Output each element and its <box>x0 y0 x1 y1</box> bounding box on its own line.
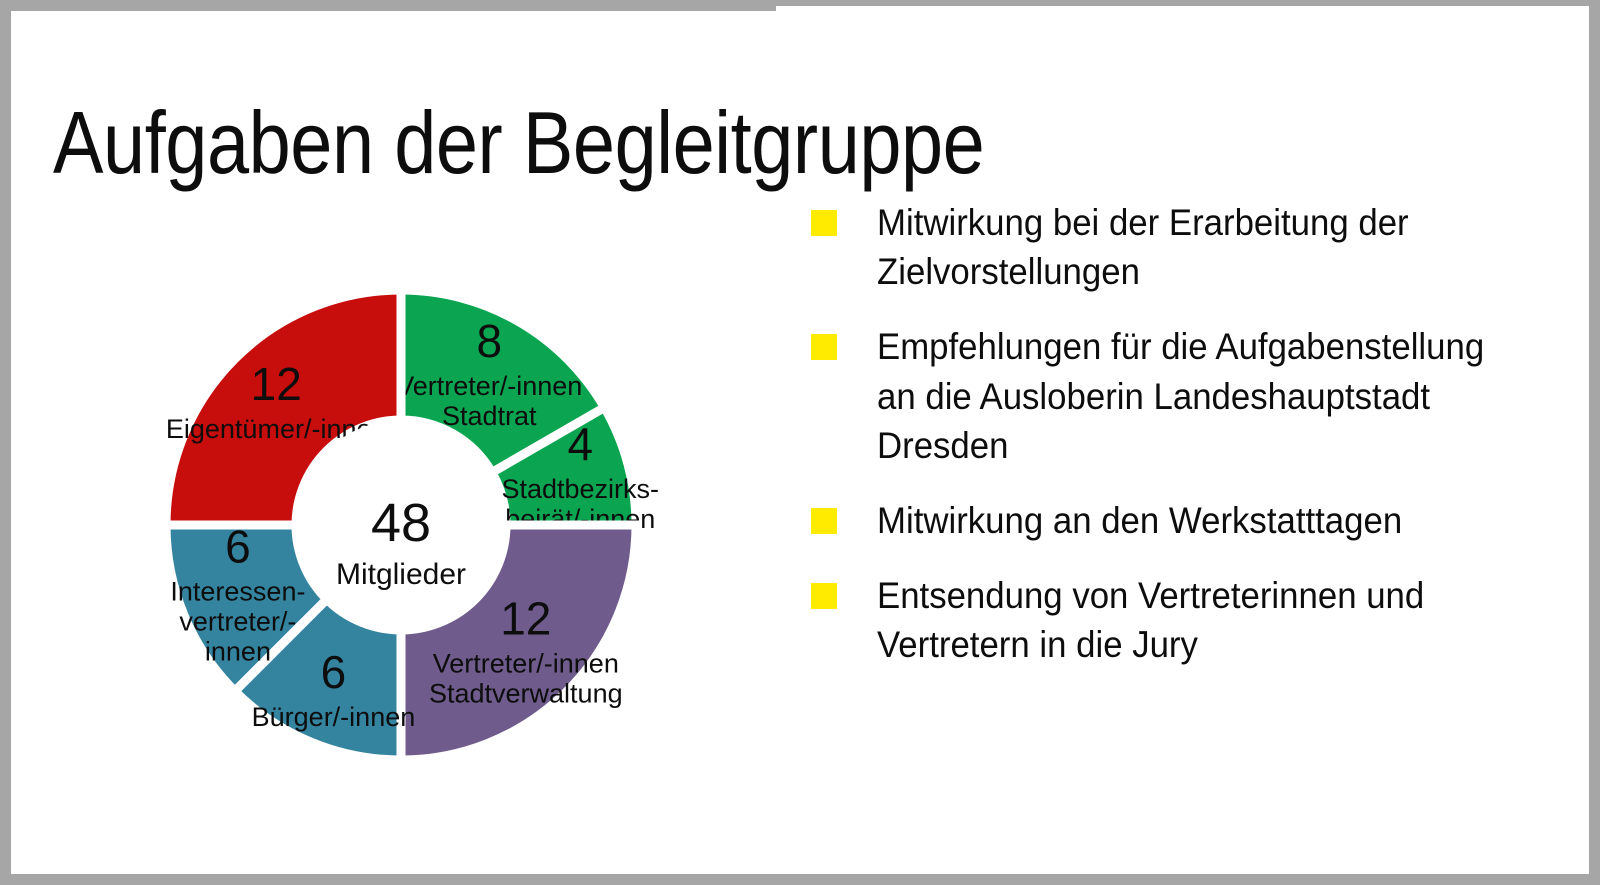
donut-chart-svg: 8Vertreter/-innenStadtrat4Stadtbezirks-b… <box>11 141 801 874</box>
bullet-square-icon <box>811 210 837 236</box>
frame-border-top-right <box>776 0 1600 6</box>
bullet-square-icon <box>811 583 837 609</box>
bullet-square-icon <box>811 508 837 534</box>
task-text: Empfehlungen für die Aufgabenstellung an… <box>877 322 1511 470</box>
donut-center-total: 48 <box>371 493 431 553</box>
list-item: Mitwirkung an den Werkstatttagen <box>811 496 1551 545</box>
donut-center-total-label: Mitglieder <box>336 558 466 591</box>
donut-slice-label: vertreter/- <box>179 606 296 636</box>
frame-border-bottom <box>0 874 1600 885</box>
slide-content: Aufgaben der Begleitgruppe 8Vertreter/-i… <box>11 13 1589 874</box>
donut-slice-label: Stadtrat <box>442 401 537 431</box>
bullet-square-icon <box>811 334 837 360</box>
donut-slice-label: Bürger/-innen <box>252 702 416 732</box>
donut-slice-label: innen <box>205 636 271 666</box>
donut-slice-value: 12 <box>251 358 302 410</box>
task-text: Entsendung von Vertreterinnen und Vertre… <box>877 571 1511 669</box>
donut-slice-label: Vertreter/-innen <box>396 371 582 401</box>
donut-slice-value: 8 <box>476 315 502 367</box>
donut-slice-value: 4 <box>567 418 593 470</box>
donut-chart: 8Vertreter/-innenStadtrat4Stadtbezirks-b… <box>11 141 801 874</box>
task-list: Mitwirkung bei der Erarbeitung der Zielv… <box>811 198 1551 696</box>
donut-slice-value: 12 <box>500 593 551 645</box>
list-item: Empfehlungen für die Aufgabenstellung an… <box>811 322 1551 470</box>
frame-border-right <box>1589 0 1600 885</box>
donut-slice-label: Vertreter/-innen <box>433 649 619 679</box>
frame-border-left <box>0 0 11 885</box>
list-item: Entsendung von Vertreterinnen und Vertre… <box>811 571 1551 669</box>
list-item: Mitwirkung bei der Erarbeitung der Zielv… <box>811 198 1551 296</box>
task-text: Mitwirkung bei der Erarbeitung der Zielv… <box>877 198 1511 296</box>
frame-border-top-left <box>0 0 776 11</box>
donut-slice-label: Stadtbezirks- <box>501 474 659 504</box>
donut-slice-label: Stadtverwaltung <box>429 679 623 709</box>
slide-canvas: Aufgaben der Begleitgruppe 8Vertreter/-i… <box>0 0 1600 885</box>
donut-slice-label: Interessen- <box>170 576 305 606</box>
donut-slice-value: 6 <box>321 646 347 698</box>
task-text: Mitwirkung an den Werkstatttagen <box>877 496 1511 545</box>
